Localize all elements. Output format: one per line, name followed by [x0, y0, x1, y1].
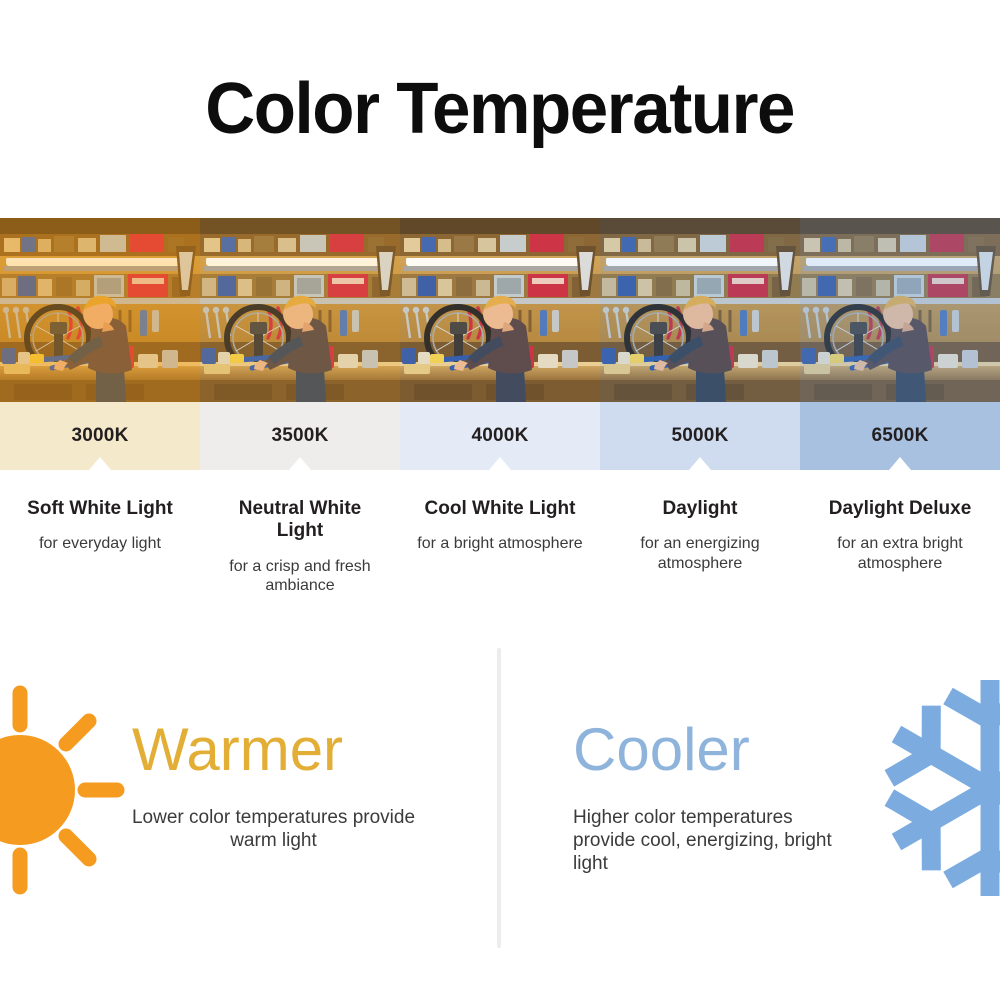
kelvin-label: 5000K — [672, 425, 729, 447]
swatch-notch — [689, 457, 711, 470]
warm-cool-comparison: Warmer Lower color temperatures provide … — [0, 640, 1000, 1000]
description-row: Soft White Lightfor everyday lightNeutra… — [0, 470, 1000, 595]
photo-strip — [0, 218, 1000, 402]
light-type-description: for an energizing atmosphere — [614, 534, 786, 572]
light-type-name: Neutral White Light — [214, 498, 386, 543]
light-type-name: Daylight Deluxe — [814, 498, 986, 520]
kelvin-swatch-band: 3000K3500K4000K5000K6500K — [0, 402, 1000, 470]
description-column: Soft White Lightfor everyday light — [0, 498, 200, 595]
page-title: Color Temperature — [206, 73, 795, 145]
description-column: Neutral White Lightfor a crisp and fresh… — [200, 498, 400, 595]
swatch-notch — [89, 457, 111, 470]
swatch-notch — [489, 457, 511, 470]
description-column: Daylight Deluxefor an extra bright atmos… — [800, 498, 1000, 595]
light-type-name: Soft White Light — [14, 498, 186, 520]
photo-panel — [0, 218, 200, 402]
title-section: Color Temperature — [0, 0, 1000, 218]
photo-panel — [600, 218, 800, 402]
swatch-notch — [289, 457, 311, 470]
description-column: Cool White Lightfor a bright atmosphere — [400, 498, 600, 595]
light-type-description: for an extra bright atmosphere — [814, 534, 986, 572]
kelvin-label: 3000K — [72, 425, 129, 447]
sun-icon — [0, 685, 125, 895]
kelvin-swatch[interactable]: 5000K — [600, 402, 800, 470]
swatch-notch — [889, 457, 911, 470]
light-type-name: Cool White Light — [414, 498, 586, 520]
light-type-description: for a bright atmosphere — [414, 534, 586, 553]
photo-panel — [200, 218, 400, 402]
photo-panel — [400, 218, 600, 402]
description-column: Daylightfor an energizing atmosphere — [600, 498, 800, 595]
kelvin-label: 6500K — [872, 425, 929, 447]
kelvin-swatch[interactable]: 6500K — [800, 402, 1000, 470]
cooler-side: Cooler Higher color temperatures provide… — [501, 640, 1000, 876]
photo-panel — [800, 218, 1000, 402]
snowflake-icon — [870, 668, 1000, 908]
kelvin-swatch[interactable]: 4000K — [400, 402, 600, 470]
kelvin-label: 3500K — [272, 425, 329, 447]
light-type-description: for everyday light — [14, 534, 186, 553]
light-type-name: Daylight — [614, 498, 786, 520]
kelvin-swatch[interactable]: 3500K — [200, 402, 400, 470]
kelvin-swatch[interactable]: 3000K — [0, 402, 200, 470]
kelvin-label: 4000K — [472, 425, 529, 447]
warmer-side: Warmer Lower color temperatures provide … — [0, 640, 497, 852]
light-type-description: for a crisp and fresh ambiance — [214, 557, 386, 595]
